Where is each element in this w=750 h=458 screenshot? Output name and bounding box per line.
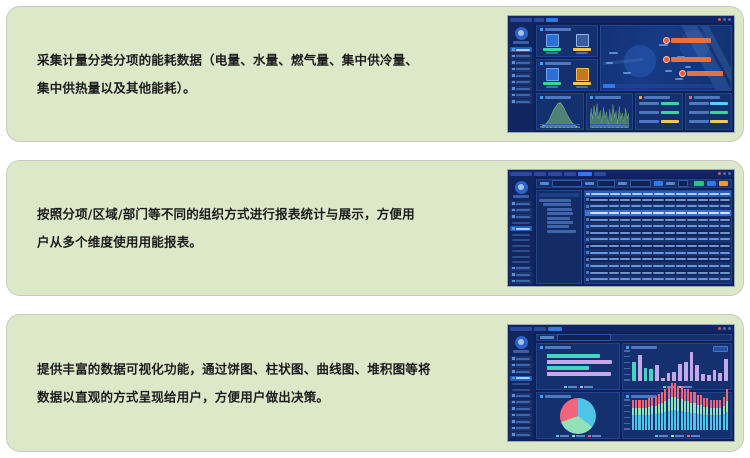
user-icon[interactable] <box>728 18 731 21</box>
bar-item <box>644 368 648 381</box>
sidebar-item-monitor[interactable] <box>510 208 532 213</box>
chart-card-area-left <box>536 93 584 130</box>
charts-grid <box>536 343 732 439</box>
sidebar-item-heating[interactable] <box>510 80 532 85</box>
map-place-label <box>659 44 668 46</box>
map-marker-callout[interactable] <box>679 70 723 77</box>
table-row[interactable] <box>585 263 731 270</box>
map-marker-callout[interactable] <box>663 56 711 63</box>
heat-icon <box>512 81 515 84</box>
area-chart-left <box>540 100 580 128</box>
bar-item <box>547 372 611 376</box>
charts-toolbar <box>536 334 732 341</box>
kpi-card-consumption <box>536 59 598 91</box>
legend-entry <box>564 386 577 388</box>
bolt-icon <box>512 414 515 417</box>
table-row[interactable] <box>585 270 731 277</box>
basket-icon <box>576 68 589 81</box>
stacked-bar-chart <box>632 400 728 430</box>
bar-item <box>684 389 686 430</box>
list-item[interactable] <box>686 117 732 126</box>
sidebar-subitem-trend[interactable] <box>510 382 532 386</box>
kpi-card-energy <box>536 25 598 57</box>
column-header-6 <box>665 193 675 196</box>
row-checkbox[interactable] <box>586 212 589 215</box>
row-checkbox[interactable] <box>586 278 589 281</box>
bar-item <box>726 389 728 430</box>
dashboard-main <box>534 23 734 132</box>
bar-item <box>677 386 679 430</box>
map-pin-icon <box>663 37 670 44</box>
bar-item <box>707 375 711 381</box>
report-topbar <box>508 170 734 177</box>
bar-item <box>690 392 692 430</box>
log-icon <box>512 427 515 430</box>
bar-item <box>703 398 705 430</box>
bar-item <box>642 400 644 430</box>
tree-panel <box>536 190 582 284</box>
gear-icon[interactable] <box>723 18 726 21</box>
bar-item <box>547 360 612 364</box>
report-body <box>508 177 734 286</box>
table-row-selected[interactable] <box>585 210 731 217</box>
legend-entry <box>580 386 593 388</box>
bar-item <box>693 392 695 430</box>
bar-item <box>697 395 699 430</box>
tree-node[interactable] <box>547 212 573 215</box>
bar-item <box>723 397 725 430</box>
map-marker-callout[interactable] <box>663 37 711 44</box>
drop-icon <box>512 61 515 64</box>
tree-node[interactable] <box>547 230 576 233</box>
legend-entry <box>556 435 569 437</box>
topbar-actions <box>718 18 731 21</box>
topbar-tab-active[interactable] <box>546 18 558 22</box>
bar-item <box>668 386 670 430</box>
bar-item <box>695 365 699 381</box>
row-checkbox[interactable] <box>586 271 589 274</box>
sidebar-subitem-monthly[interactable] <box>510 226 532 231</box>
table-row[interactable] <box>585 223 731 230</box>
table-row[interactable] <box>585 276 731 283</box>
toolbar-label-dimension <box>540 336 554 339</box>
geo-map[interactable] <box>600 25 732 91</box>
dot-icon <box>512 227 515 230</box>
dimension-select[interactable] <box>557 334 611 341</box>
panel-3-line-2: 数据以直观的方式呈现给用户，方便用户做出决策。 <box>37 383 487 411</box>
bullet-icon <box>626 395 629 398</box>
map-place-label <box>685 66 691 68</box>
topbar-actions <box>718 327 731 330</box>
bar-item <box>648 398 650 430</box>
sidebar-item-alarm[interactable] <box>510 266 532 271</box>
bar-item <box>718 373 722 381</box>
bolt-icon <box>512 55 515 58</box>
row-checkbox[interactable] <box>586 231 589 234</box>
sidebar-item-system[interactable] <box>510 279 532 284</box>
kpi-heat-label <box>576 86 588 88</box>
gauge-icon <box>576 34 589 47</box>
snow-icon <box>512 74 515 77</box>
kpi-gas-label <box>546 86 558 88</box>
row-checkbox[interactable] <box>586 251 589 254</box>
report-grid <box>584 190 732 284</box>
feature-panel-data-visualization: 提供丰富的数据可视化功能，通过饼图、柱状图、曲线图、堆积图等将 数据以直观的方式… <box>6 314 744 452</box>
chart-card-pie <box>536 392 620 439</box>
map-place-label <box>606 62 613 64</box>
flame-icon <box>512 68 515 71</box>
sidebar-subitem-compare[interactable] <box>510 255 532 259</box>
building-icon <box>546 68 559 81</box>
chart-card-vertical-bar <box>622 343 732 390</box>
bar-item <box>690 352 694 381</box>
column-header-4 <box>643 193 653 196</box>
legend-entry <box>588 435 601 437</box>
bullet-icon <box>626 346 629 349</box>
bar-item <box>635 400 637 430</box>
bullet-icon <box>590 96 593 99</box>
chart-legend <box>537 386 619 388</box>
gear-icon <box>512 433 515 436</box>
row-checkbox[interactable] <box>586 238 589 241</box>
bar-item <box>674 383 676 430</box>
report-main <box>534 177 734 286</box>
avatar <box>515 181 528 194</box>
sidebar-item-report[interactable] <box>510 214 532 219</box>
gear-icon[interactable] <box>723 327 726 330</box>
area-chart-right <box>590 100 630 128</box>
charts-topbar <box>508 325 734 332</box>
home-icon <box>512 202 515 205</box>
row-checkbox[interactable] <box>586 245 589 248</box>
chart-card-horizontal-bar-title <box>537 344 619 349</box>
map-place-label <box>623 72 631 74</box>
chart-card-area-left-title <box>537 94 583 99</box>
map-pin-icon <box>663 56 670 63</box>
sidebar-user-name <box>513 195 529 198</box>
screenshot-energy-overview-dashboard <box>507 15 735 133</box>
tab-item-statistics[interactable] <box>548 172 562 176</box>
query-button[interactable] <box>654 181 663 187</box>
bar-item <box>716 400 718 430</box>
user-icon[interactable] <box>728 172 731 175</box>
bar-item <box>547 354 600 358</box>
table-row[interactable] <box>585 243 731 250</box>
sidebar-item-analysis[interactable] <box>510 369 532 374</box>
kpi-column <box>536 25 598 91</box>
report-content <box>536 190 732 284</box>
tree-node[interactable] <box>547 225 569 228</box>
bar-item <box>655 397 657 430</box>
chart-card-area-right <box>586 93 634 130</box>
sidebar-item-cooling[interactable] <box>510 73 532 78</box>
dashboard-sidebar <box>508 23 534 132</box>
bar-item <box>658 394 660 430</box>
bar-item <box>651 397 653 430</box>
panel-3-description: 提供丰富的数据可视化功能，通过饼图、柱状图、曲线图、堆积图等将 数据以直观的方式… <box>37 356 487 411</box>
topbar-logo <box>510 18 532 22</box>
gear-icon <box>512 280 515 283</box>
topbar-logo <box>510 172 532 176</box>
tree-node[interactable] <box>547 221 573 224</box>
chart-legend <box>537 435 619 437</box>
row-checkbox[interactable] <box>586 198 589 201</box>
sidebar-item-water[interactable] <box>510 60 532 65</box>
row-checkbox[interactable] <box>586 258 589 261</box>
avatar <box>515 27 528 40</box>
sidebar-item-report[interactable] <box>510 393 532 398</box>
sidebar-item-overview[interactable] <box>510 201 532 206</box>
bar-item <box>724 359 728 381</box>
sidebar-item-device[interactable] <box>510 272 532 277</box>
sidebar-item-overview[interactable] <box>510 47 532 52</box>
sidebar-item-device[interactable] <box>510 406 532 411</box>
bar-item <box>667 373 671 381</box>
vertical-bar-chart <box>632 351 728 381</box>
monitor-icon <box>512 209 515 212</box>
bell-icon <box>512 94 515 97</box>
kpi-water-label <box>576 52 588 54</box>
map-place-label <box>675 78 683 80</box>
tab-item-overview[interactable] <box>534 327 546 331</box>
bar-item <box>678 364 682 381</box>
report-icon <box>512 87 515 90</box>
bar-item <box>547 366 589 370</box>
column-header-9 <box>698 193 708 196</box>
list-item[interactable] <box>636 117 682 126</box>
pie-icon <box>512 377 515 380</box>
sidebar-subitem-ratio[interactable] <box>510 388 532 392</box>
bar-item <box>687 389 689 430</box>
column-header-name <box>591 193 609 196</box>
report-icon <box>512 215 515 218</box>
sidebar-subitem-area[interactable] <box>510 238 532 242</box>
sidebar-item-alarm[interactable] <box>510 400 532 405</box>
bullet-icon <box>540 395 543 398</box>
row-checkbox[interactable] <box>586 205 589 208</box>
kpi-card-consumption-title <box>537 60 574 65</box>
sidebar-subitem-custom[interactable] <box>510 260 532 264</box>
filter-select-type[interactable] <box>552 180 582 187</box>
map-place-label <box>609 52 618 54</box>
sidebar-item-log[interactable] <box>510 426 532 431</box>
sidebar-item-electricity[interactable] <box>510 54 532 59</box>
print-button[interactable] <box>707 181 716 187</box>
bell-icon <box>512 267 515 270</box>
column-header-1 <box>610 193 620 196</box>
export-button[interactable] <box>694 181 703 187</box>
tree-node[interactable] <box>547 208 572 211</box>
bullet-icon <box>540 96 543 99</box>
sidebar-subitem-daily[interactable] <box>510 221 532 225</box>
table-row[interactable] <box>585 217 731 224</box>
bar-item <box>632 362 636 381</box>
sidebar-item-energy[interactable] <box>510 413 532 418</box>
y-axis-ticks <box>624 350 631 381</box>
bar-item <box>638 355 642 381</box>
column-header-8 <box>687 193 697 196</box>
feature-panel-report-statistics: 按照分项/区域/部门等不同的组织方式进行报表统计与展示，方便用 户从多个维度使用… <box>6 160 744 296</box>
sidebar-item-settings[interactable] <box>510 99 532 104</box>
sidebar-item-gas[interactable] <box>510 67 532 72</box>
alert-icon[interactable] <box>718 172 721 175</box>
alert-icon[interactable] <box>718 327 721 330</box>
bar-item <box>638 400 640 430</box>
chart-card-area-right-title <box>587 94 633 99</box>
data-list-card-ranking <box>635 93 683 130</box>
feature-panel-energy-collection: 采集计量分类分项的能耗数据（电量、水量、燃气量、集中供冷量、 集中供热量以及其他… <box>6 6 744 142</box>
filter-date-input[interactable] <box>597 180 615 187</box>
bar-item <box>710 400 712 430</box>
bar-item <box>661 392 663 430</box>
chart-icon <box>512 370 515 373</box>
chart-card-pie-title <box>537 393 619 398</box>
filter-label-unit <box>666 182 675 185</box>
home-icon <box>512 357 515 360</box>
column-header-2 <box>621 193 631 196</box>
row-checkbox[interactable] <box>586 225 589 228</box>
table-row[interactable] <box>585 250 731 257</box>
tab-item-analysis[interactable] <box>564 172 576 176</box>
legend-entry <box>687 435 700 437</box>
bullet-icon <box>540 62 543 65</box>
bar-item <box>684 362 688 381</box>
topbar-label <box>534 18 544 22</box>
chart-legend <box>623 435 731 437</box>
monitor-icon <box>512 364 515 367</box>
tree-node[interactable] <box>547 217 570 220</box>
sidebar-subitem-dept[interactable] <box>510 244 532 248</box>
report-sidebar <box>508 177 534 286</box>
kpi-card-energy-title <box>537 26 574 31</box>
row-checkbox[interactable] <box>586 218 589 221</box>
x-axis-ticks <box>590 126 630 128</box>
screenshot-energy-visualization-dashboard <box>507 324 735 442</box>
bar-item <box>681 386 683 430</box>
data-list-card-alarm <box>685 93 733 130</box>
table-row[interactable] <box>585 230 731 237</box>
map-status-bar <box>603 84 727 88</box>
sidebar-item-overview[interactable] <box>510 356 532 361</box>
dashboard-topbar <box>508 16 734 23</box>
table-row[interactable] <box>585 204 731 211</box>
kpi-gas-value <box>543 82 561 85</box>
report-icon <box>512 394 515 397</box>
tree-node[interactable] <box>543 203 571 206</box>
tab-item-overview[interactable] <box>534 172 546 176</box>
bar-item <box>649 369 653 381</box>
topbar-logo <box>510 327 532 331</box>
list-item[interactable] <box>636 99 682 108</box>
chart-card-stacked-bar <box>622 392 732 439</box>
tree-search-input[interactable] <box>539 193 579 197</box>
tab-item-report[interactable] <box>578 172 592 176</box>
sidebar-user-name <box>513 350 529 353</box>
table-row[interactable] <box>585 237 731 244</box>
column-header-10 <box>709 193 719 196</box>
x-axis-ticks <box>540 126 580 128</box>
sidebar-item-visualization[interactable] <box>510 376 532 381</box>
sidebar-user-name <box>513 41 529 44</box>
bullet-icon <box>540 28 543 31</box>
avatar <box>515 336 528 349</box>
bar-item <box>719 400 721 430</box>
list-item[interactable] <box>636 108 682 117</box>
charts-body <box>508 332 734 441</box>
legend-entry <box>671 435 684 437</box>
sidebar-subitem-yearly[interactable] <box>510 233 532 237</box>
map-place-label <box>665 70 672 72</box>
topbar-actions <box>718 172 731 175</box>
bar-item <box>664 389 666 430</box>
list-item[interactable] <box>686 108 732 117</box>
y-axis-ticks <box>624 399 631 430</box>
horizontal-bar-chart <box>547 352 615 382</box>
bar-item <box>632 400 634 430</box>
column-header-total <box>720 193 730 196</box>
tab-item-charts[interactable] <box>548 327 562 331</box>
column-header-3 <box>632 193 642 196</box>
sidebar-item-user[interactable] <box>510 419 532 424</box>
legend-entry <box>655 435 668 437</box>
kpi-electricity-value <box>543 48 561 51</box>
reset-button[interactable] <box>719 181 728 187</box>
panel-2-line-1: 按照分项/区域/部门等不同的组织方式进行报表统计与展示，方便用 <box>37 201 487 229</box>
dashboard-body <box>508 23 734 132</box>
sidebar-item-monitor[interactable] <box>510 363 532 368</box>
user-icon[interactable] <box>728 327 731 330</box>
panel-2-line-2: 户从多个维度使用用能报表。 <box>37 228 487 256</box>
bell-icon <box>512 401 515 404</box>
bar-item <box>672 372 676 381</box>
alert-icon[interactable] <box>718 18 721 21</box>
bar-item <box>655 365 659 381</box>
table-row[interactable] <box>585 256 731 263</box>
panel-3-line-1: 提供丰富的数据可视化功能，通过饼图、柱状图、曲线图、堆积图等将 <box>37 356 487 384</box>
sidebar-item-system[interactable] <box>510 432 532 437</box>
charts-sidebar <box>508 332 534 441</box>
map-pin-icon <box>679 70 686 77</box>
legend-entry <box>572 435 585 437</box>
gear-icon <box>512 100 515 103</box>
bar-item <box>671 383 673 430</box>
filter-unit-input[interactable] <box>678 180 688 187</box>
column-header-5 <box>654 193 664 196</box>
page-root: 采集计量分类分项的能耗数据（电量、水量、燃气量、集中供冷量、 集中供热量以及其他… <box>0 0 750 458</box>
chart-card-horizontal-bar <box>536 343 620 390</box>
filter-range-input[interactable] <box>630 180 651 187</box>
sidebar-item-report[interactable] <box>510 86 532 91</box>
tree-node[interactable] <box>539 199 571 202</box>
home-icon <box>512 48 515 51</box>
row-checkbox[interactable] <box>586 264 589 267</box>
list-item[interactable] <box>686 99 732 108</box>
gear-icon[interactable] <box>723 172 726 175</box>
dashboard-top-row <box>536 25 732 91</box>
device-icon <box>512 407 515 410</box>
table-row[interactable] <box>585 197 731 204</box>
sidebar-item-alarm[interactable] <box>510 93 532 98</box>
bullet-icon <box>540 346 543 349</box>
bar-item <box>645 400 647 430</box>
filter-toolbar <box>536 179 732 188</box>
kpi-heat-value <box>573 82 591 85</box>
bar-item <box>713 400 715 430</box>
tab-item-settings[interactable] <box>594 172 606 176</box>
bar-item <box>701 374 705 381</box>
bar-item <box>713 370 717 381</box>
sidebar-subitem-item[interactable] <box>510 249 532 253</box>
